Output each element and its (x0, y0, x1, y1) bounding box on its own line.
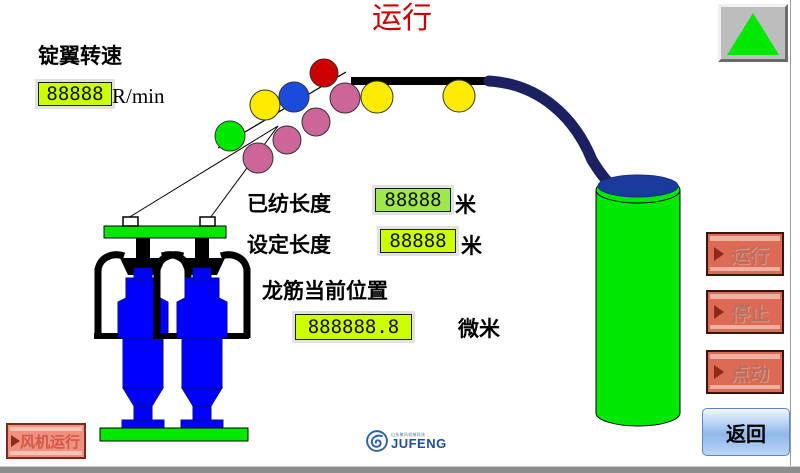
rail-position-label: 龙筋当前位置 (262, 275, 388, 305)
bolt-right (200, 217, 215, 226)
spindle-speed-label: 锭翼转速 (38, 40, 122, 70)
lower-rail (100, 428, 248, 441)
jufeng-swirl-icon (366, 430, 388, 452)
roller-circle-5 (273, 126, 301, 154)
roller-circle-9 (443, 80, 475, 112)
play-triangle-icon (714, 305, 724, 319)
bolt-left (123, 217, 138, 226)
stop-button-label: 停止 (731, 299, 769, 326)
bottom-status-bar (0, 466, 800, 473)
rail-position-unit: 微米 (458, 313, 500, 343)
company-logo: 山东聚风机械科技 JUFENG (366, 428, 462, 454)
play-triangle-icon (11, 435, 20, 447)
sliver-rope (489, 81, 617, 189)
scroll-up-button[interactable] (718, 4, 788, 62)
spun-length-unit: 米 (455, 189, 476, 219)
roller-circle-8 (361, 81, 393, 113)
spindle-right (153, 238, 249, 430)
roller-circle-group (215, 59, 475, 173)
run-button[interactable]: 运行 (706, 232, 784, 276)
logo-name: JUFENG (391, 437, 447, 450)
spun-length-label: 已纺长度 (247, 188, 331, 218)
right-panel-strip (790, 0, 800, 466)
roller-circle-3 (310, 59, 338, 87)
set-length-unit: 米 (461, 230, 482, 260)
roller-circle-4 (243, 143, 273, 173)
roller-circle-6 (302, 108, 330, 136)
roller-circle-0 (215, 121, 245, 151)
run-button-label: 运行 (731, 241, 769, 268)
back-button-label: 返回 (726, 418, 766, 447)
set-length-label: 设定长度 (247, 229, 331, 259)
roller-circle-7 (330, 83, 360, 113)
hmi-screen: 运行 锭翼转速 88888 R/min 已纺长度 88888 米 设定长度 88… (0, 0, 800, 473)
can-body (596, 190, 680, 413)
roller-circle-1 (250, 90, 280, 120)
spindle-speed-value[interactable]: 88888 (38, 82, 112, 106)
fan-run-button-label: 风机运行 (20, 431, 80, 452)
page-title: 运行 (332, 2, 472, 36)
play-triangle-icon (714, 247, 724, 261)
upper-rail (104, 226, 226, 238)
jog-button-label: 点动 (731, 359, 769, 386)
jog-button[interactable]: 点动 (706, 350, 784, 394)
can-top-fill (598, 175, 678, 197)
rail-position-value[interactable]: 888888.8 (295, 314, 412, 340)
back-button[interactable]: 返回 (702, 408, 790, 456)
fan-run-button[interactable]: 风机运行 (6, 423, 86, 459)
play-triangle-icon (714, 365, 724, 379)
spun-length-value[interactable]: 88888 (375, 188, 451, 212)
up-triangle-icon (727, 13, 779, 55)
spindle-speed-unit: R/min (112, 84, 165, 109)
roller-circle-2 (279, 82, 309, 112)
stop-button[interactable]: 停止 (706, 290, 784, 334)
set-length-value[interactable]: 88888 (380, 229, 456, 253)
